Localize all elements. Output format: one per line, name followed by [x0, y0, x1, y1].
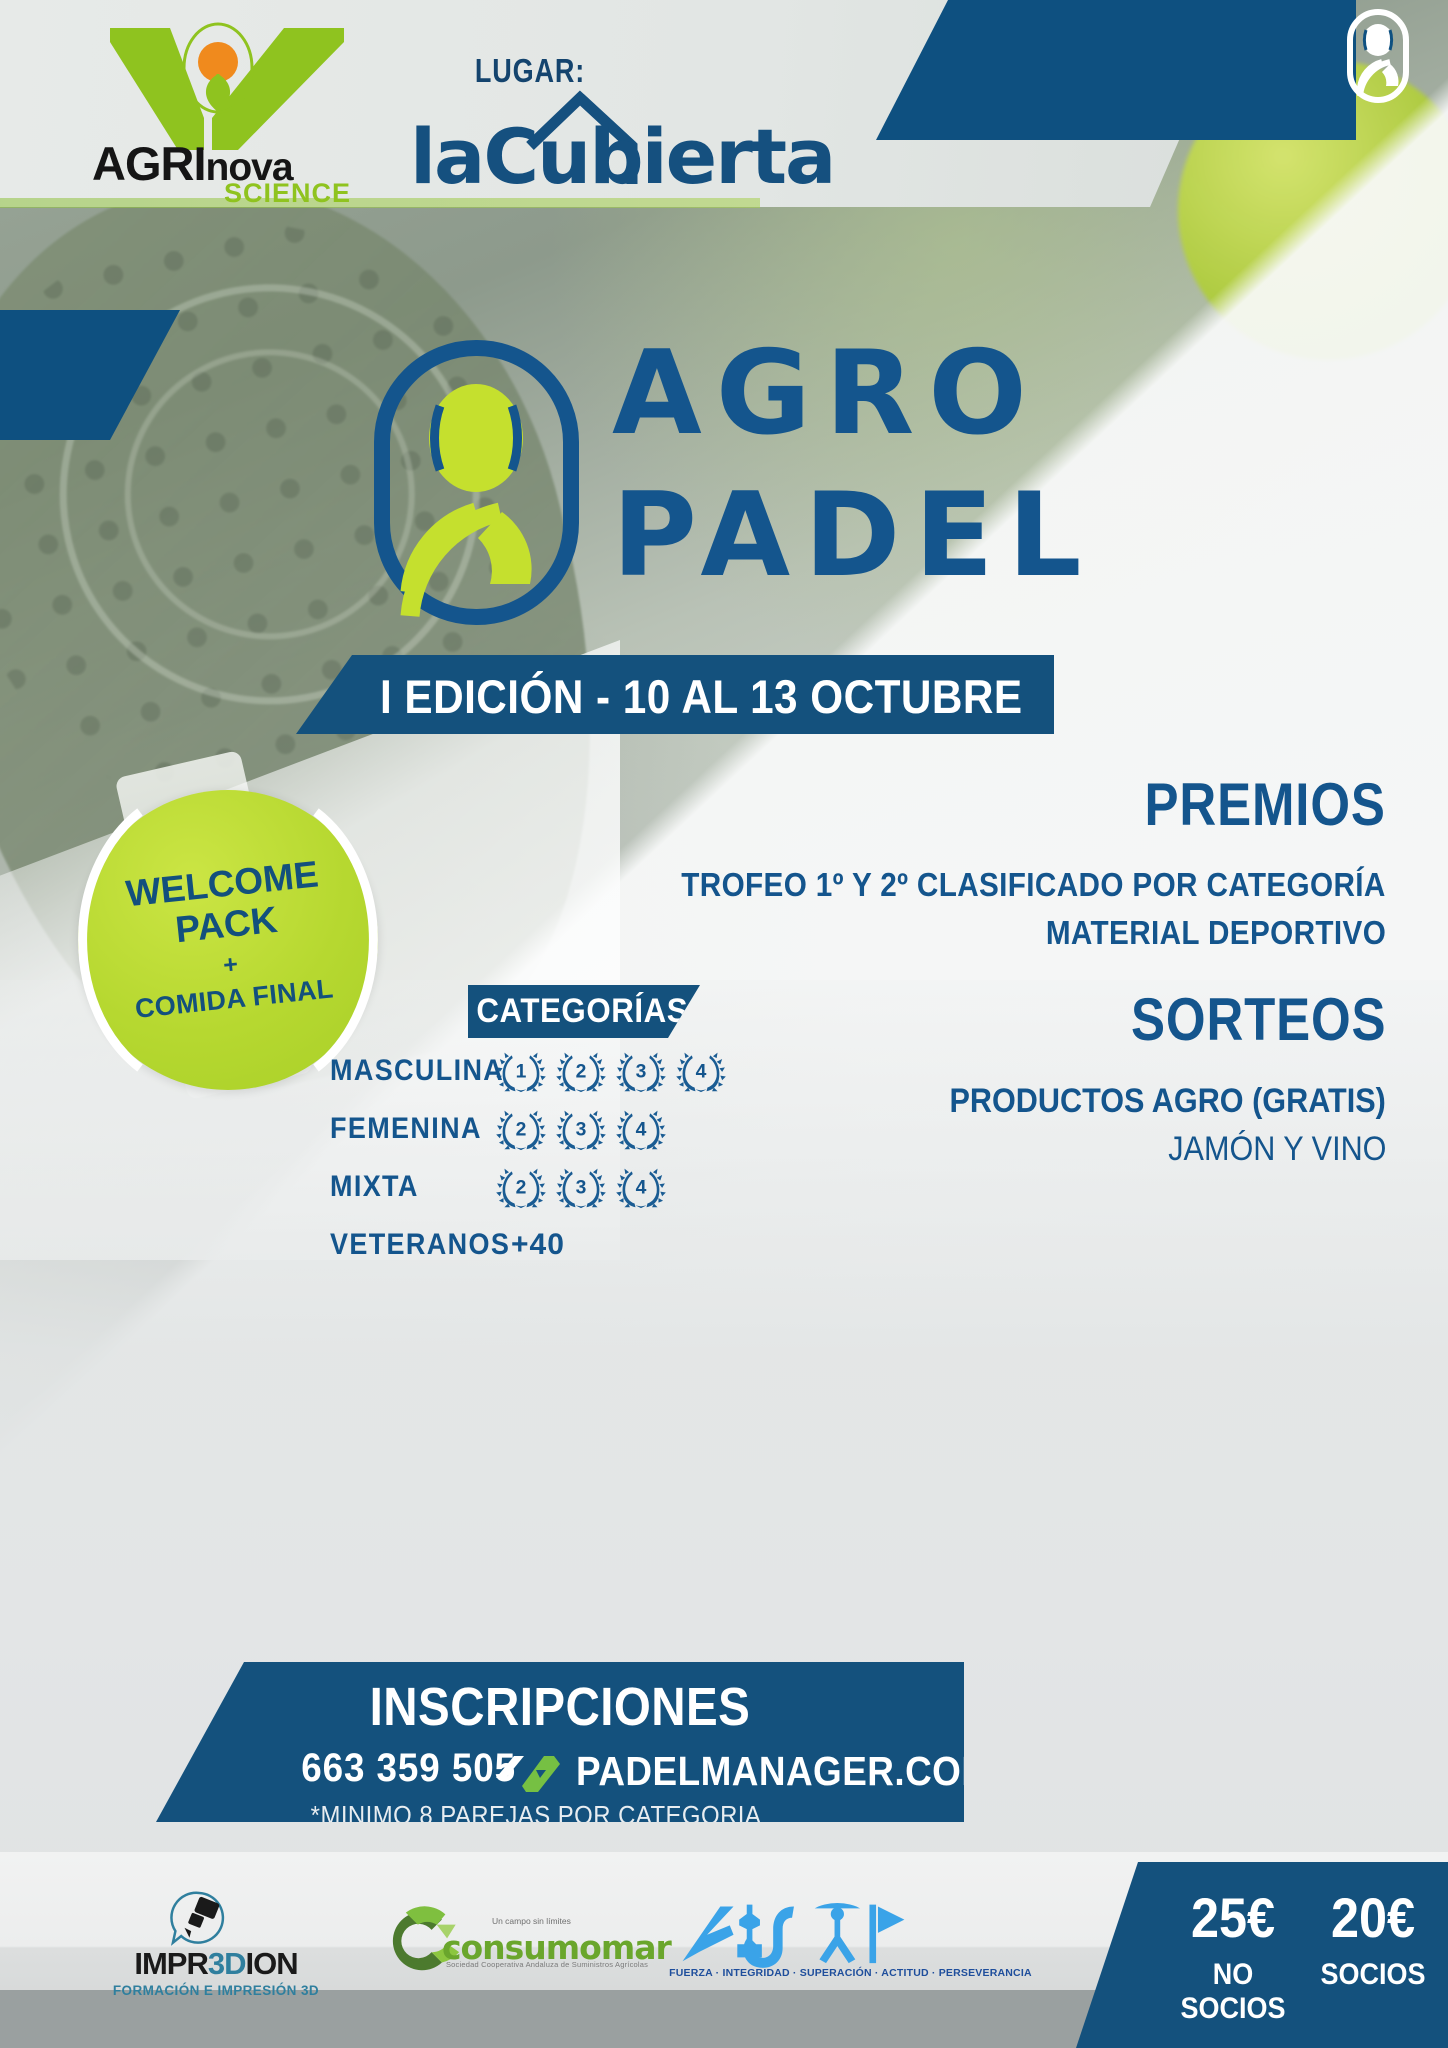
categoria-row: MASCULINA 1 — [330, 1048, 750, 1094]
impredion-wordmark: IMPR3DION — [110, 1948, 322, 1979]
header-blue-tab — [876, 0, 1356, 140]
sponsor-impredion: IMPR3DION FORMACIÓN E IMPRESIÓN 3D — [110, 1888, 322, 1998]
inscripciones-band: INSCRIPCIONES 663 359 505 PADELMANAGER.C… — [156, 1662, 964, 1822]
lugar-label: LUGAR: — [448, 52, 612, 90]
impredion-tagline: FORMACIÓN E IMPRESIÓN 3D — [110, 1983, 322, 1998]
laurel-level-number: 4 — [636, 1177, 647, 1198]
categoria-levels: 2 3 — [495, 1164, 667, 1210]
laurel-level-number: 2 — [576, 1061, 587, 1082]
fisap-logo-icon — [675, 1893, 911, 1969]
premios-title: PREMIOS — [1145, 770, 1386, 839]
impredion-printer-icon — [166, 1888, 266, 1946]
premios-item-1: TROFEO 1º Y 2º CLASIFICADO POR CATEGORÍA — [682, 866, 1386, 904]
categoria-name: VETERANOS — [330, 1228, 479, 1262]
agrinova-leaf-icon — [92, 22, 372, 152]
laurel-level-number: 3 — [636, 1061, 647, 1082]
poster-root: AGRInova SCIENCE LUGAR: laCubierta AGRO … — [0, 0, 1448, 2048]
sponsor-fisap: FUERZA · INTEGRIDAD · SUPERACIÓN · ACTIT… — [669, 1893, 910, 1993]
price-no-socios-value: 25€ — [1175, 1890, 1292, 1946]
categoria-name: FEMENINA — [330, 1112, 479, 1146]
padelmanager-chevron-icon — [492, 1748, 564, 1792]
laurel-wreath-icon: 3 — [555, 1164, 607, 1210]
laurel-wreath-icon: 2 — [555, 1048, 607, 1094]
sorteos-item-2: JAMÓN Y VINO — [1168, 1130, 1386, 1169]
categoria-row: MIXTA 2 — [330, 1164, 750, 1210]
categorias-tab-label: CATEGORÍAS — [476, 992, 669, 1031]
date-banner: I EDICIÓN - 10 AL 13 OCTUBRE — [296, 655, 1054, 734]
price-no-socios: 25€ NO SOCIOS — [1168, 1890, 1298, 2026]
impredion-name-3d: 3D — [208, 1946, 246, 1981]
inscripciones-website[interactable]: PADELMANAGER.COM — [576, 1748, 993, 1795]
inscripciones-title: INSCRIPCIONES — [204, 1676, 915, 1738]
price-band: 25€ NO SOCIOS 20€ SOCIOS — [1076, 1862, 1448, 2048]
agrinova-agri-text: AGRI — [92, 137, 206, 190]
laurel-wreath-icon: 2 — [495, 1164, 547, 1210]
impredion-name-b: ION — [245, 1946, 297, 1981]
laurel-level-number: 4 — [636, 1119, 647, 1140]
categorias-tab: CATEGORÍAS — [468, 985, 700, 1038]
laurel-level-number: 2 — [516, 1119, 527, 1140]
laurel-level-number: 1 — [516, 1061, 527, 1082]
sorteos-title: SORTEOS — [1131, 985, 1386, 1054]
hero-title-agro: AGRO — [612, 336, 1041, 452]
price-socios-value: 20€ — [1315, 1890, 1432, 1946]
agropadel-badge-icon — [1344, 8, 1412, 104]
categoria-name: MIXTA — [330, 1170, 479, 1204]
sponsors-row: IMPR3DION FORMACIÓN E IMPRESIÓN 3D Un ca… — [110, 1878, 910, 2008]
categoria-levels: 2 3 — [495, 1106, 667, 1152]
price-socios: 20€ SOCIOS — [1308, 1890, 1438, 1992]
sorteos-item-1: PRODUCTOS AGRO (GRATIS) — [950, 1082, 1386, 1121]
welcome-pack-plus: + — [222, 952, 239, 978]
categoria-row: FEMENINA 2 — [330, 1106, 750, 1152]
laurel-wreath-icon: 3 — [615, 1048, 667, 1094]
laurel-level-number: 3 — [576, 1177, 587, 1198]
welcome-pack-line2: PACK — [173, 899, 279, 952]
lacubierta-logo: laCubierta — [400, 88, 820, 206]
categorias-list: MASCULINA 1 — [330, 1048, 750, 1280]
laurel-wreath-icon: 4 — [615, 1164, 667, 1210]
laurel-wreath-icon: 2 — [495, 1106, 547, 1152]
lacubierta-wordmark: laCubierta — [410, 112, 830, 201]
categoria-row: VETERANOS +40 — [330, 1222, 750, 1268]
fisap-tagline: FUERZA · INTEGRIDAD · SUPERACIÓN · ACTIT… — [669, 1967, 919, 1979]
sponsor-consumomar: Un campo sin límites consumomar Sociedad… — [380, 1898, 611, 1988]
hero-title-padel: PADEL — [612, 478, 1096, 594]
price-socios-label: SOCIOS — [1315, 1958, 1432, 1992]
categoria-name: MASCULINA — [330, 1054, 479, 1088]
agrinova-logo: AGRInova SCIENCE — [92, 22, 372, 200]
laurel-wreath-icon: 4 — [615, 1106, 667, 1152]
laurel-wreath-icon: 3 — [555, 1106, 607, 1152]
agrinova-science-text: SCIENCE — [224, 178, 351, 209]
inscripciones-phone[interactable]: 663 359 505 — [148, 1746, 516, 1791]
agropadel-main-logo-icon — [374, 340, 579, 625]
laurel-level-number: 2 — [516, 1177, 527, 1198]
impredion-name-a: IMPR — [134, 1946, 208, 1981]
laurel-level-number: 3 — [576, 1119, 587, 1140]
consumomar-top-tagline: Un campo sin límites — [492, 1916, 571, 1926]
price-no-socios-label: NO SOCIOS — [1175, 1958, 1292, 2026]
laurel-wreath-icon: 4 — [675, 1048, 727, 1094]
date-banner-text: I EDICIÓN - 10 AL 13 OCTUBRE — [380, 669, 1023, 724]
categoria-levels: 1 2 — [495, 1048, 727, 1094]
welcome-pack-line3: COMIDA FINAL — [134, 973, 335, 1025]
laurel-level-number: 4 — [696, 1061, 707, 1082]
premios-item-2: MATERIAL DEPORTIVO — [1046, 914, 1386, 952]
consumomar-bottom-tagline: Sociedad Cooperativa Andaluza de Suminis… — [446, 1960, 648, 1969]
categoria-note: +40 — [511, 1228, 565, 1262]
